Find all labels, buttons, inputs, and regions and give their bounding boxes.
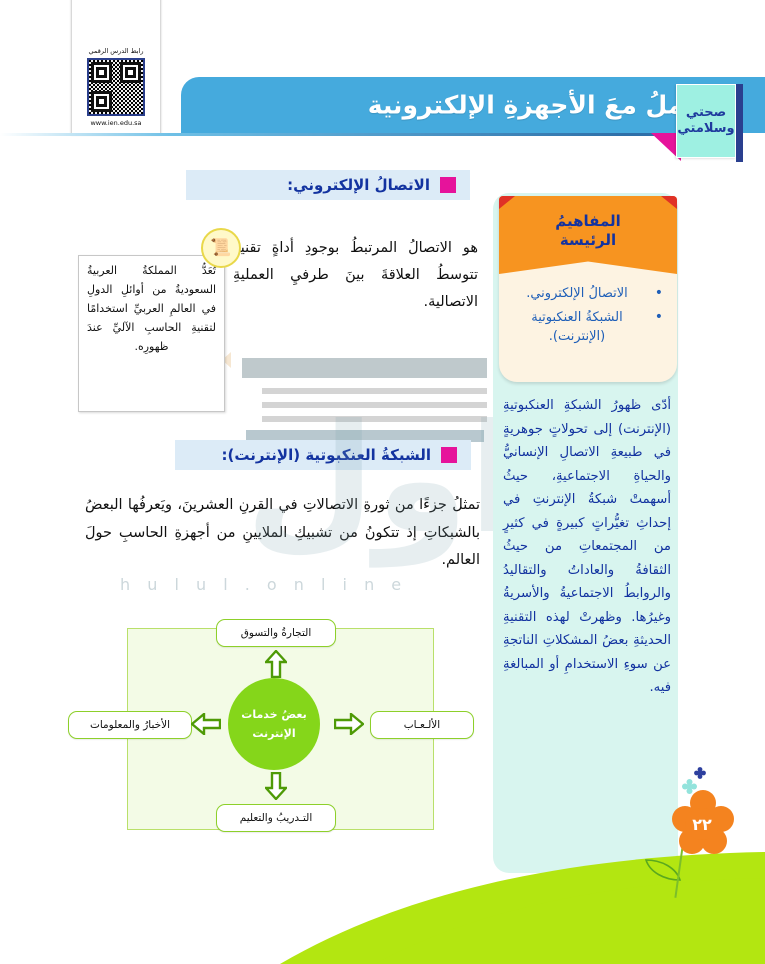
arrow-down-icon (265, 772, 287, 800)
list-item: الاتصالُ الإلكتروني. (505, 284, 663, 304)
diagram-node-training: التـدريبُ والتعليم (216, 804, 336, 832)
quote-text: تُعَدُّ المملكةُ العربيةُ السعوديةُ من أ… (87, 262, 216, 357)
bottom-wave-decoration (0, 834, 765, 964)
arrow-right-icon (334, 713, 364, 735)
qr-card: رابط الدرس الرقمي www.ien.edu.sa (71, 0, 161, 134)
section-heading-label: الشبكةُ العنكبوتية (الإنترنت): (221, 446, 431, 464)
side-tab-spine (736, 84, 743, 162)
diagram-node-news: الأخبارُ والمعلومات (68, 711, 192, 739)
page-number-flower: ٢٢ (672, 790, 734, 860)
key-concepts-list: الاتصالُ الإلكتروني. الشبكةُ العنكبوتية … (499, 274, 677, 347)
qr-label: رابط الدرس الرقمي (89, 47, 144, 55)
mini-flower-blue-icon (698, 764, 706, 772)
list-item: الشبكةُ العنكبوتية (الإنترنت). (505, 308, 663, 347)
mini-flower-cyan-icon (689, 779, 697, 787)
qr-url: www.ien.edu.sa (90, 119, 141, 127)
diagram-center-line2: الإنترنت (252, 727, 295, 740)
arrow-up-icon (265, 650, 287, 678)
unit-tab-line1: صحتي (686, 105, 726, 121)
section-heading-label: الاتصالُ الإلكتروني: (287, 176, 430, 194)
title-underline (0, 133, 680, 136)
key-concepts-card: المفاهيمُ الرئيسة الاتصالُ الإلكتروني. ا… (499, 196, 677, 382)
note-icon: 📜 (201, 228, 241, 268)
definition-paragraph: هو الاتصالُ المرتبطُ بوجودِ أداةٍ تقنيةٍ… (233, 235, 478, 315)
watermark-sub: h u l u l . o n l i n e (120, 575, 407, 594)
decorative-bar (262, 388, 487, 394)
diagram-node-commerce: التجارةُ والتسوق (216, 619, 336, 647)
document-glyph: 📜 (210, 240, 231, 257)
page-number-badge: ٢٢ (685, 808, 719, 840)
section-heading-internet: الشبكةُ العنكبوتية (الإنترنت): (175, 440, 471, 470)
textbook-page: اول h u l u l . o n l i n e رابط الدرس ا… (0, 0, 765, 964)
diagram-center-line1: بعضُ خدمات (241, 708, 306, 721)
decorative-bar (262, 416, 487, 422)
unit-tab: صحتي وسلامتي (676, 84, 736, 158)
diagram-node-games: الألـعـاب (370, 711, 474, 739)
page-number: ٢٢ (692, 815, 712, 834)
key-concepts-title-line1: المفاهيمُ (555, 212, 621, 230)
key-concepts-header: المفاهيمُ الرئيسة (499, 196, 677, 274)
decorative-bar (262, 402, 487, 408)
key-concepts-title-line2: الرئيسة (560, 231, 616, 249)
arrow-left-icon (191, 713, 221, 735)
info-quote-box: تُعَدُّ المملكةُ العربيةُ السعوديةُ من أ… (78, 255, 225, 412)
square-bullet-icon (440, 177, 456, 193)
diagram-center-label: بعضُ خدمات الإنترنت (228, 678, 320, 770)
section-heading-electronic-communication: الاتصالُ الإلكتروني: (186, 170, 470, 200)
square-bullet-icon (441, 447, 457, 463)
unit-tab-line2: وسلامتي (677, 121, 734, 137)
qr-code-icon[interactable] (87, 58, 145, 116)
sidebar-body-text: أدّى ظهورُ الشبكةِ العنكبوتيةِ (الإنترنت… (503, 394, 671, 700)
internet-paragraph: تمثلُ جزءًا من ثورةِ الاتصالاتِ في القرن… (85, 492, 480, 575)
decorative-bar (242, 358, 487, 378)
